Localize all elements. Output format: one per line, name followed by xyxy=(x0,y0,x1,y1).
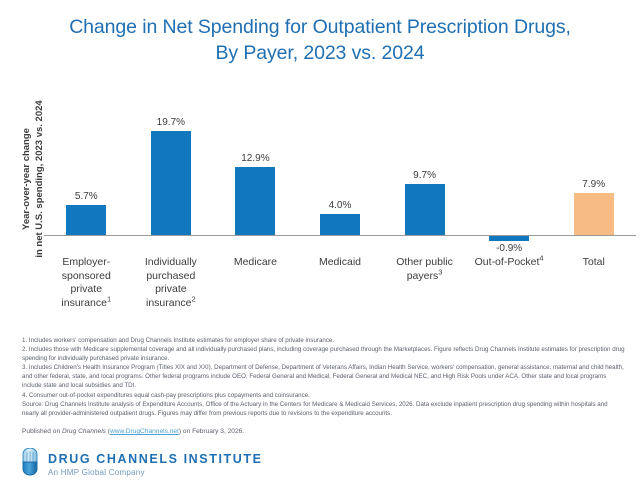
category-label: Employer-sponsoredprivateinsurance1 xyxy=(39,256,133,310)
category-label: Other publicpayers3 xyxy=(378,256,472,283)
bar-value-label: 12.9% xyxy=(241,153,269,164)
bar-value-label: 5.7% xyxy=(75,191,98,202)
category-label: Individuallypurchasedprivateinsurance2 xyxy=(124,256,218,310)
bar-value-label: 19.7% xyxy=(157,117,185,128)
footnote-line: 3. Includes Children's Health Insurance … xyxy=(22,363,626,390)
category-label: Total xyxy=(547,256,640,270)
category-label: Medicare xyxy=(208,256,302,270)
category-label-line: Other public xyxy=(378,256,472,270)
category-label-line: private xyxy=(124,283,218,297)
published-publication: Drug Channels xyxy=(62,428,106,435)
bar[interactable] xyxy=(320,214,360,235)
bar[interactable] xyxy=(489,236,529,241)
category-label-line: insurance1 xyxy=(39,297,133,311)
footnote-line: 1. Includes workers' compensation and Dr… xyxy=(22,336,626,345)
category-label-line: purchased xyxy=(124,270,218,284)
y-axis-title: Year-over-year change in net U.S. spendi… xyxy=(20,84,46,274)
category-label: Medicaid xyxy=(293,256,387,270)
chart-area: Year-over-year change in net U.S. spendi… xyxy=(0,88,640,328)
bar[interactable] xyxy=(574,193,614,235)
category-label-line: private xyxy=(39,283,133,297)
logo-name: DRUG CHANNELS INSTITUTE xyxy=(48,452,263,467)
footnote-line: Source: Drug Channels Institute analysis… xyxy=(22,400,626,418)
bar[interactable] xyxy=(235,167,275,235)
bar-value-label: 9.7% xyxy=(413,170,436,181)
bar-value-label: 7.9% xyxy=(582,179,605,190)
category-label-line: Employer- xyxy=(39,256,133,270)
logo-text: DRUG CHANNELS INSTITUTE An HMP Global Co… xyxy=(48,452,263,478)
footnote-marker: 1 xyxy=(107,294,111,303)
bar[interactable] xyxy=(66,205,106,235)
footnotes: 1. Includes workers' compensation and Dr… xyxy=(22,336,626,418)
published-line: Published on Drug Channels (www.DrugChan… xyxy=(22,428,626,435)
capsule-pill-icon xyxy=(20,448,40,481)
y-axis-title-line-1: Year-over-year change xyxy=(20,84,33,274)
published-suffix: on February 3, 2026. xyxy=(183,428,244,435)
category-label-line: Individually xyxy=(124,256,218,270)
bar-group[interactable]: -0.9%Out-of-Pocket4 xyxy=(467,88,552,328)
category-label-line: insurance2 xyxy=(124,297,218,311)
footnote-marker: 4 xyxy=(539,254,543,263)
chart-title: Change in Net Spending for Outpatient Pr… xyxy=(0,0,640,66)
bar-value-label: 4.0% xyxy=(329,200,352,211)
category-label-line: Out-of-Pocket4 xyxy=(462,256,556,270)
logo-tagline: An HMP Global Company xyxy=(48,467,263,478)
category-label-line: Medicare xyxy=(208,256,302,270)
drugchannels-link[interactable]: www.DrugChannels.net xyxy=(110,428,179,435)
category-label-line: payers3 xyxy=(378,270,472,284)
footnote-marker: 2 xyxy=(192,294,196,303)
category-label-line: Medicaid xyxy=(293,256,387,270)
bar[interactable] xyxy=(405,184,445,235)
footnote-line: 4. Consumer out-of-pocket expenditures e… xyxy=(22,391,626,400)
bar[interactable] xyxy=(151,131,191,235)
category-label-line: Total xyxy=(547,256,640,270)
footnote-line: 2. Includes those with Medicare suppleme… xyxy=(22,345,626,363)
bar-group[interactable]: 19.7%Individuallypurchasedprivateinsuran… xyxy=(129,88,214,328)
bar-group[interactable]: 7.9%Total xyxy=(551,88,636,328)
footnote-marker: 3 xyxy=(438,267,442,276)
published-prefix: Published on xyxy=(22,428,62,435)
bar-group[interactable]: 4.0%Medicaid xyxy=(298,88,383,328)
bar-value-label: -0.9% xyxy=(496,243,522,254)
chart-title-line-2: By Payer, 2023 vs. 2024 xyxy=(30,40,610,66)
plot-region: 5.7%Employer-sponsoredprivateinsurance11… xyxy=(44,88,636,328)
category-label-line: sponsored xyxy=(39,270,133,284)
chart-title-line-1: Change in Net Spending for Outpatient Pr… xyxy=(30,14,610,40)
bar-group[interactable]: 12.9%Medicare xyxy=(213,88,298,328)
drug-channels-institute-logo: DRUG CHANNELS INSTITUTE An HMP Global Co… xyxy=(20,448,263,481)
bar-group[interactable]: 5.7%Employer-sponsoredprivateinsurance1 xyxy=(44,88,129,328)
bar-group[interactable]: 9.7%Other publicpayers3 xyxy=(382,88,467,328)
category-label: Out-of-Pocket4 xyxy=(462,256,556,270)
